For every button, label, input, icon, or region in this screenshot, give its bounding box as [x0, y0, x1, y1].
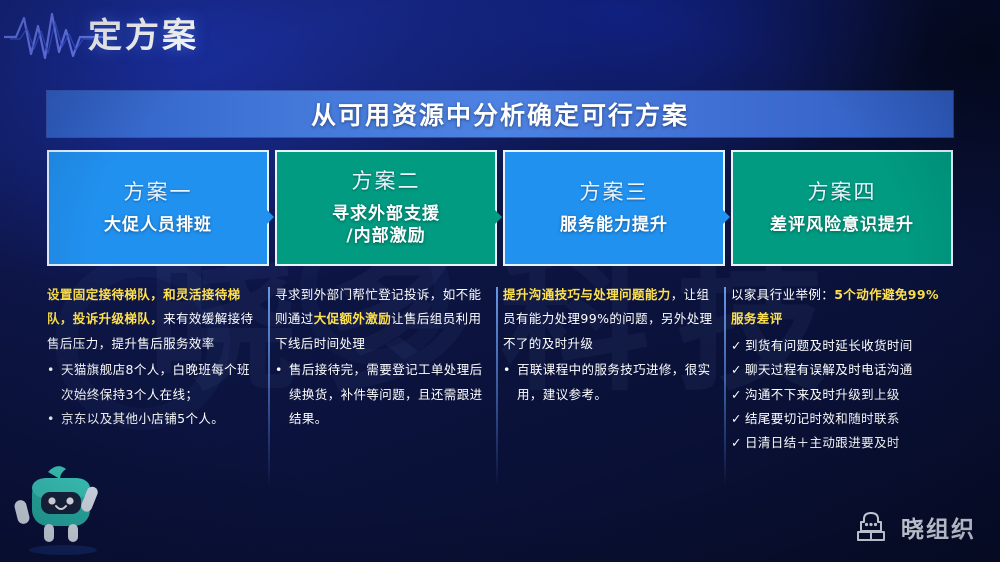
check-icon: ✓: [731, 334, 745, 358]
list-item-text: 百联课程中的服务技巧进修，很实用，建议参考。: [517, 358, 717, 407]
list-item-text: 售后接待完，需要登记工单处理后续换货，补件等问题，且还需跟进结果。: [289, 358, 489, 431]
list-item-text: 沟通不下来及时升级到上级: [745, 383, 945, 407]
slide-header: 定方案: [0, 0, 1000, 74]
column-divider: [724, 287, 726, 487]
list-item-text: 日清日结＋主动跟进要及时: [745, 431, 945, 455]
step-box-title: 差评风险意识提升: [770, 215, 914, 237]
column-bullet-list: ✓到货有问题及时延长收货时间✓聊天过程有误解及时电话沟通✓沟通不下来及时升级到上…: [731, 334, 945, 456]
column-bullet-list: •售后接待完，需要登记工单处理后续换货，补件等问题，且还需跟进结果。: [275, 358, 489, 431]
column-paragraph: 寻求到外部门帮忙登记投诉，如不能则通过大促额外激励让售后组员利用下线后时间处理: [275, 283, 489, 356]
column-divider: [268, 287, 270, 487]
robot-book-icon: [851, 510, 891, 544]
detail-column-3: 提升沟通技巧与处理问题能力，让组员有能力处理99%的问题，另外处理不了的及时升级…: [503, 283, 725, 515]
bullet-dot-icon: •: [275, 358, 289, 382]
step-arrow-3: [711, 198, 730, 236]
list-item: •售后接待完，需要登记工单处理后续换货，补件等问题，且还需跟进结果。: [275, 358, 489, 431]
detail-column-2: 寻求到外部门帮忙登记投诉，如不能则通过大促额外激励让售后组员利用下线后时间处理•…: [275, 283, 497, 515]
column-bullet-list: •百联课程中的服务技巧进修，很实用，建议参考。: [503, 358, 717, 407]
column-paragraph: 以家具行业举例：5个动作避免99%服务差评: [731, 283, 945, 332]
detail-column-4: 以家具行业举例：5个动作避免99%服务差评✓到货有问题及时延长收货时间✓聊天过程…: [731, 283, 953, 515]
step-box-1[interactable]: 方案一大促人员排班: [47, 150, 269, 266]
step-box-label: 方案四: [808, 176, 877, 206]
check-icon: ✓: [731, 383, 745, 407]
column-paragraph: 提升沟通技巧与处理问题能力，让组员有能力处理99%的问题，另外处理不了的及时升级: [503, 283, 717, 356]
highlighted-text: 提升沟通技巧与处理问题能力: [503, 287, 671, 302]
section-banner: 从可用资源中分析确定可行方案: [47, 91, 953, 137]
paragraph-text: 以家具行业举例：: [731, 287, 834, 302]
step-box-label: 方案一: [124, 176, 193, 206]
step-box-label: 方案二: [352, 165, 421, 195]
list-item: ✓日清日结＋主动跟进要及时: [731, 431, 945, 455]
page-title: 定方案: [88, 8, 199, 57]
list-item: •百联课程中的服务技巧进修，很实用，建议参考。: [503, 358, 717, 407]
bullet-dot-icon: •: [47, 407, 61, 431]
list-item: ✓结尾要切记时效和随时联系: [731, 407, 945, 431]
highlighted-text: 大促额外激励: [314, 311, 391, 326]
step-box-title: 大促人员排班: [104, 215, 212, 237]
step-box-4[interactable]: 方案四差评风险意识提升: [731, 150, 953, 266]
brand-logo-text: 晓组织: [901, 510, 976, 544]
list-item: •天猫旗舰店8个人，白晚班每个班次始终保持3个人在线；: [47, 358, 261, 407]
slide-canvas: 晓多科技 定方案 从可用资源中分析确定可行方案 方案一大促人员排班方案二寻求外部…: [0, 0, 1000, 562]
step-arrow-2: [483, 198, 502, 236]
list-item-text: 聊天过程有误解及时电话沟通: [745, 358, 945, 382]
step-arrow-1: [255, 198, 274, 236]
check-icon: ✓: [731, 431, 745, 455]
brand-logo: 晓组织: [851, 510, 976, 544]
step-box-label: 方案三: [580, 176, 649, 206]
list-item: ✓沟通不下来及时升级到上级: [731, 383, 945, 407]
step-box-2[interactable]: 方案二寻求外部支援/内部激励: [275, 150, 497, 266]
column-divider: [496, 287, 498, 487]
detail-column-row: 设置固定接待梯队，和灵活接待梯队，投诉升级梯队，来有效缓解接待售后压力，提升售后…: [47, 283, 953, 515]
bullet-dot-icon: •: [503, 358, 517, 382]
list-item-text: 天猫旗舰店8个人，白晚班每个班次始终保持3个人在线；: [61, 358, 261, 407]
check-icon: ✓: [731, 407, 745, 431]
list-item-text: 京东以及其他小店铺5个人。: [61, 407, 261, 431]
list-item-text: 到货有问题及时延长收货时间: [745, 334, 945, 358]
step-box-title: 寻求外部支援/内部激励: [332, 204, 440, 248]
step-box-row: 方案一大促人员排班方案二寻求外部支援/内部激励方案三服务能力提升方案四差评风险意…: [47, 150, 953, 266]
banner-title: 从可用资源中分析确定可行方案: [311, 96, 689, 132]
bullet-dot-icon: •: [47, 358, 61, 382]
step-box-title: 服务能力提升: [560, 215, 668, 237]
column-paragraph: 设置固定接待梯队，和灵活接待梯队，投诉升级梯队，来有效缓解接待售后压力，提升售后…: [47, 283, 261, 356]
column-bullet-list: •天猫旗舰店8个人，白晚班每个班次始终保持3个人在线；•京东以及其他小店铺5个人…: [47, 358, 261, 431]
robot-mascot-icon: [8, 456, 118, 556]
list-item: •京东以及其他小店铺5个人。: [47, 407, 261, 431]
check-icon: ✓: [731, 358, 745, 382]
list-item: ✓到货有问题及时延长收货时间: [731, 334, 945, 358]
step-box-3[interactable]: 方案三服务能力提升: [503, 150, 725, 266]
highlighted-text: 设置固定接待梯队，和灵活接: [47, 287, 215, 302]
list-item-text: 结尾要切记时效和随时联系: [745, 407, 945, 431]
list-item: ✓聊天过程有误解及时电话沟通: [731, 358, 945, 382]
